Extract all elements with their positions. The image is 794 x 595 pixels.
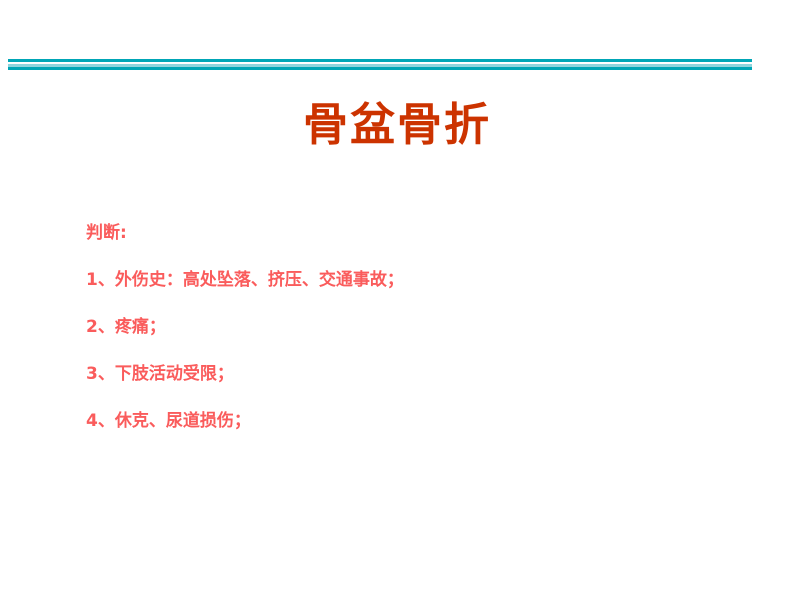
page-title: 骨盆骨折 — [0, 97, 794, 153]
content-list: 判断: 1、外伤史：高处坠落、挤压、交通事故； 2、疼痛； 3、下肢活动受限； … — [86, 222, 726, 432]
divider-rule-thin — [8, 67, 752, 70]
list-item: 1、外伤史：高处坠落、挤压、交通事故； — [86, 269, 726, 291]
section-label: 判断: — [86, 222, 726, 244]
header-divider-rules — [8, 59, 752, 70]
list-item: 2、疼痛； — [86, 316, 726, 338]
slide-canvas: 骨盆骨折 判断: 1、外伤史：高处坠落、挤压、交通事故； 2、疼痛； 3、下肢活… — [0, 0, 794, 595]
list-item: 4、休克、尿道损伤； — [86, 410, 726, 432]
list-item: 3、下肢活动受限； — [86, 363, 726, 385]
